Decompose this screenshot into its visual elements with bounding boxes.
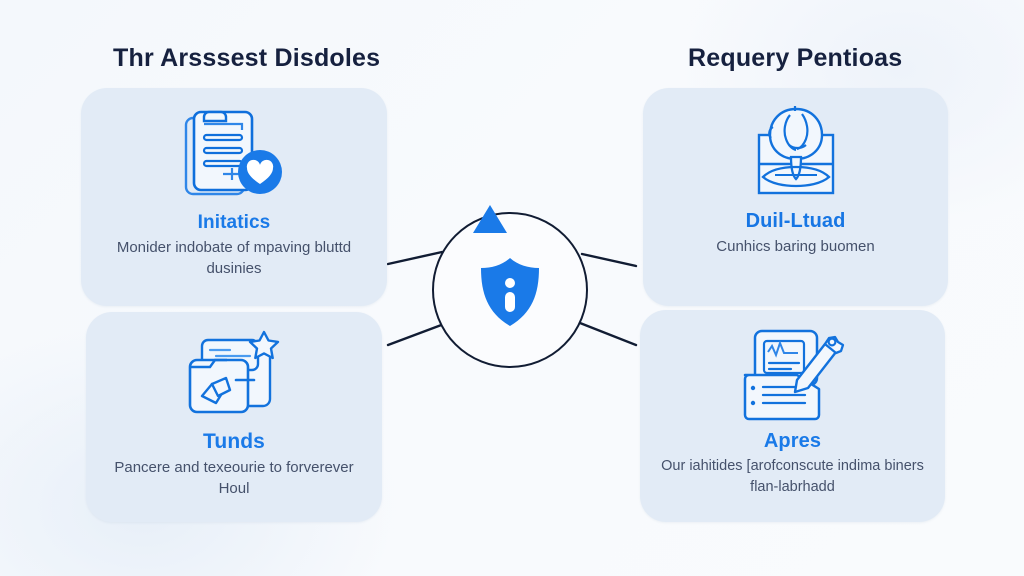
diagram-canvas: Thr Arsssest Disdoles Requery Pentioas I… <box>0 0 1024 576</box>
card-description: Cunhics baring buomen <box>700 236 890 257</box>
card-bottom-left[interactable]: Tunds Pancere and texeourie to forvereve… <box>86 312 382 522</box>
triangle-marker-icon <box>473 205 507 233</box>
section-title-left: Thr Arsssest Disdoles <box>113 44 380 73</box>
shield-info-icon <box>478 256 542 328</box>
card-title: Apres <box>764 430 821 453</box>
cards-star-megaphone-icon <box>176 328 292 424</box>
figure-box-icon <box>743 104 849 204</box>
card-description: Pancere and texeourie to forverever Houl <box>86 457 382 500</box>
card-description: Our iahitides [arofconscute indima biner… <box>640 456 945 497</box>
card-bottom-right[interactable]: Apres Our iahitides [arofconscute indima… <box>640 310 945 522</box>
card-title: Tunds <box>203 430 265 454</box>
clipboard-heart-icon <box>176 102 292 206</box>
card-title: Duil-Ltuad <box>746 210 846 233</box>
center-hub[interactable] <box>432 212 592 372</box>
card-top-right[interactable]: Duil-Ltuad Cunhics baring buomen <box>643 88 948 306</box>
card-top-left[interactable]: Initatics Monider indobate of mpaving bl… <box>81 88 387 306</box>
document-pen-list-icon <box>733 324 853 424</box>
card-title: Initatics <box>198 212 271 234</box>
section-title-right: Requery Pentioas <box>688 44 902 73</box>
card-description: Monider indobate of mpaving bluttd dusin… <box>81 237 387 280</box>
